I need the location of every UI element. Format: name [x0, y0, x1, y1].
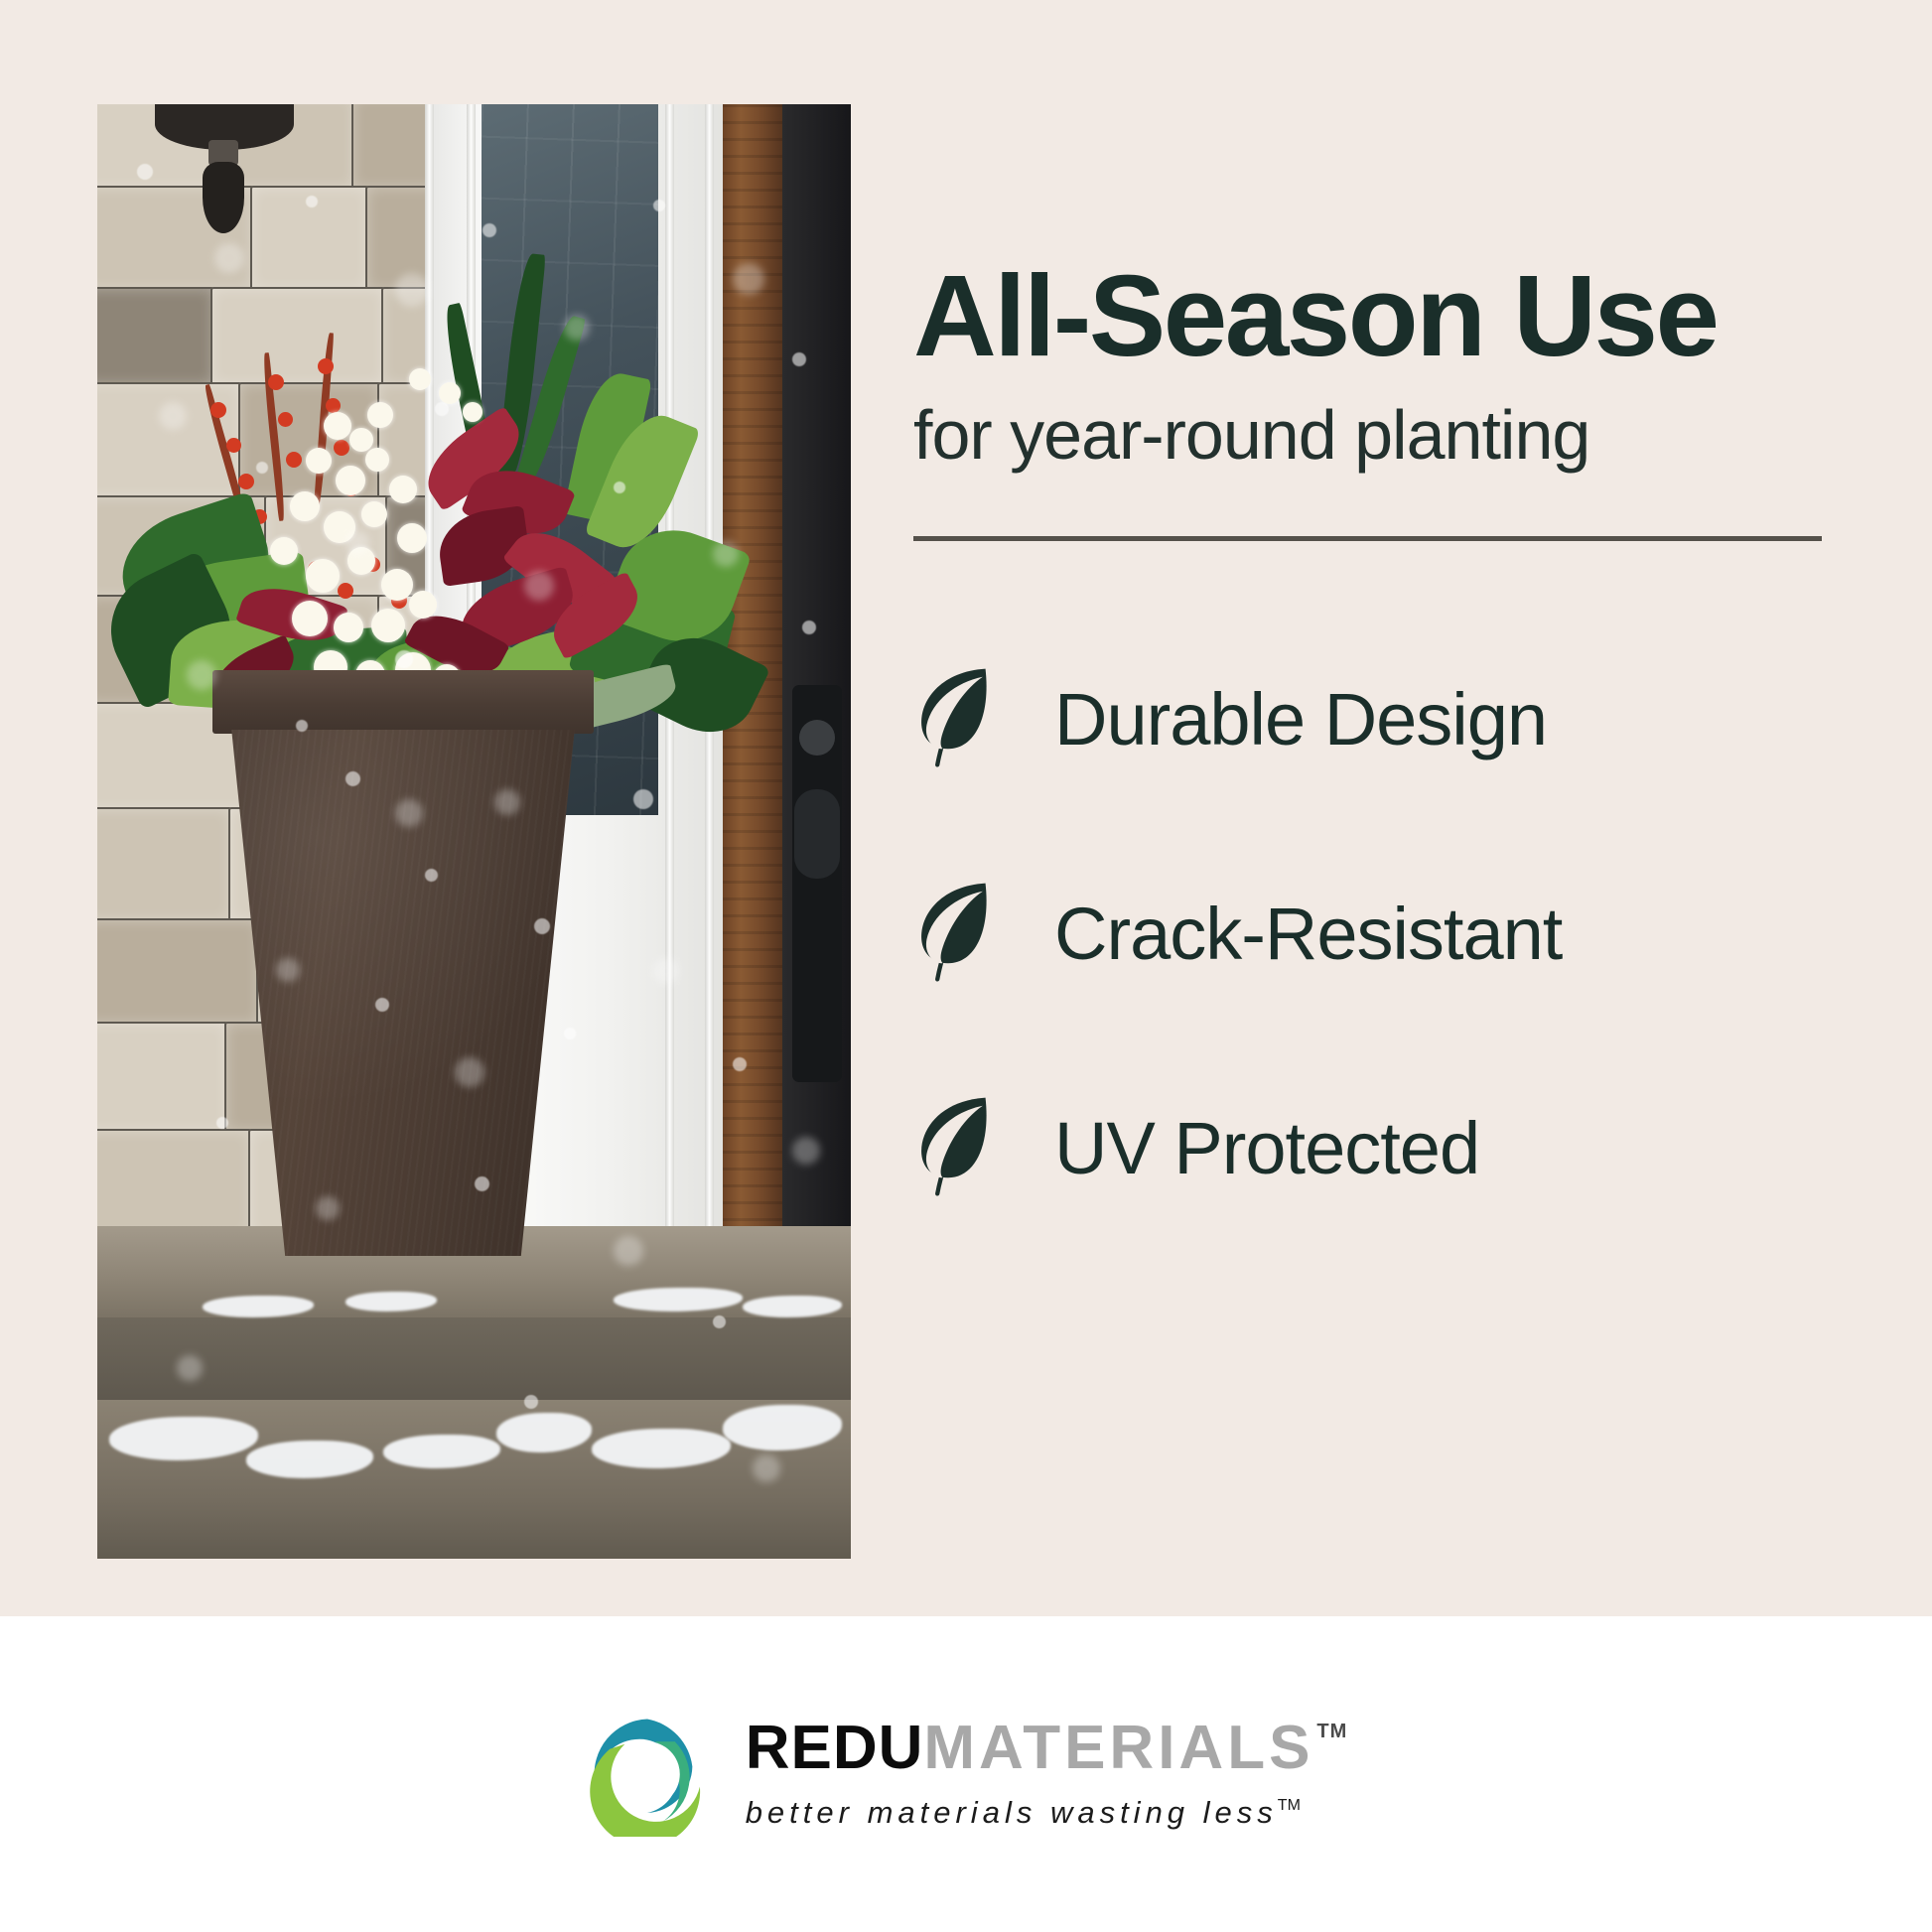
leaf-icon — [913, 878, 999, 990]
redu-swirl-icon — [585, 1712, 710, 1837]
trademark-symbol: TM — [1316, 1722, 1347, 1741]
feature-label: Crack-Resistant — [1054, 892, 1562, 976]
leaf-icon — [913, 1092, 999, 1204]
feature-label: UV Protected — [1054, 1106, 1479, 1190]
brand-logo: REDU MATERIALS TM better materials wasti… — [585, 1712, 1348, 1837]
section-divider — [913, 536, 1822, 541]
wordmark-secondary: MATERIALS — [923, 1718, 1313, 1779]
list-item: UV Protected — [913, 1041, 1866, 1256]
feature-list: Durable Design Crack-Resistant — [913, 613, 1866, 1256]
footer: REDU MATERIALS TM better materials wasti… — [0, 1616, 1932, 1932]
page-subtitle: for year-round planting — [913, 399, 1866, 473]
winter-plant-arrangement — [111, 263, 747, 730]
logo-text: REDU MATERIALS TM better materials wasti… — [746, 1718, 1348, 1831]
leaf-icon — [913, 663, 999, 775]
door-handle-icon — [794, 789, 840, 879]
hero-content: All-Season Use for year-round planting D… — [913, 258, 1866, 1256]
list-item: Crack-Resistant — [913, 827, 1866, 1041]
product-photo — [97, 104, 851, 1559]
door-lock-icon — [799, 720, 835, 756]
feature-label: Durable Design — [1054, 677, 1547, 761]
tagline-trademark-symbol: TM — [1278, 1797, 1301, 1815]
wordmark-primary: REDU — [746, 1718, 924, 1779]
wordmark: REDU MATERIALS TM — [746, 1718, 1348, 1779]
list-item: Durable Design — [913, 613, 1866, 827]
wall-lamp-body — [203, 162, 244, 233]
promo-graphic: All-Season Use for year-round planting D… — [0, 0, 1932, 1932]
stone-step-face — [97, 1317, 851, 1407]
tagline-text: better materials wasting less — [746, 1795, 1278, 1831]
page-title: All-Season Use — [913, 258, 1866, 373]
brand-tagline: better materials wasting less TM — [746, 1795, 1348, 1831]
